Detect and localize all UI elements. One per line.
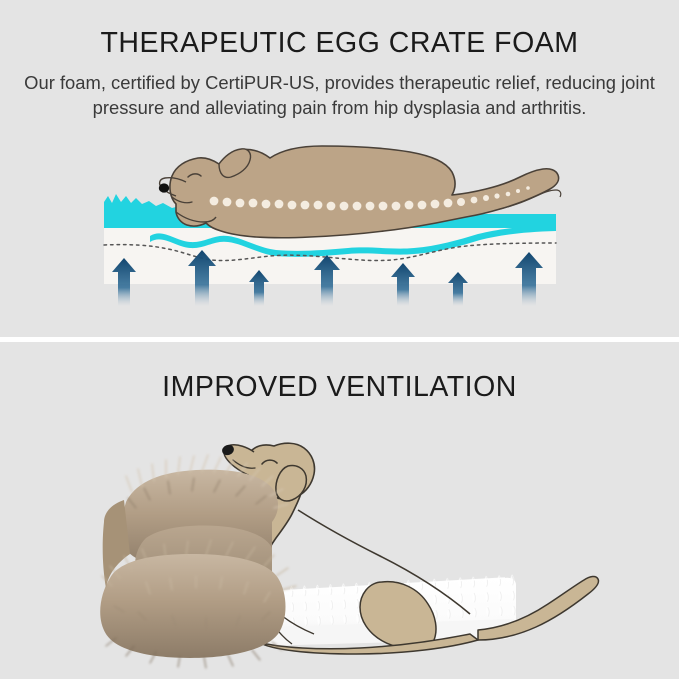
- product-infographic: THERAPEUTIC EGG CRATE FOAM Our foam, cer…: [0, 0, 679, 679]
- panel-improved-ventilation: IMPROVED VENTILATION: [0, 342, 679, 679]
- foam-illustration: [0, 0, 679, 337]
- ventilation-scene-svg: CertiPUR-US CONTAINS CERTIFIED FLEXIBLE …: [0, 342, 679, 679]
- panel-therapeutic-foam: THERAPEUTIC EGG CRATE FOAM Our foam, cer…: [0, 0, 679, 337]
- foam-cross-section-svg: [0, 0, 679, 337]
- ventilation-illustration: CertiPUR-US CONTAINS CERTIFIED FLEXIBLE …: [0, 342, 679, 679]
- dog-nose: [159, 183, 169, 192]
- plush-bolster-bed: [100, 455, 296, 668]
